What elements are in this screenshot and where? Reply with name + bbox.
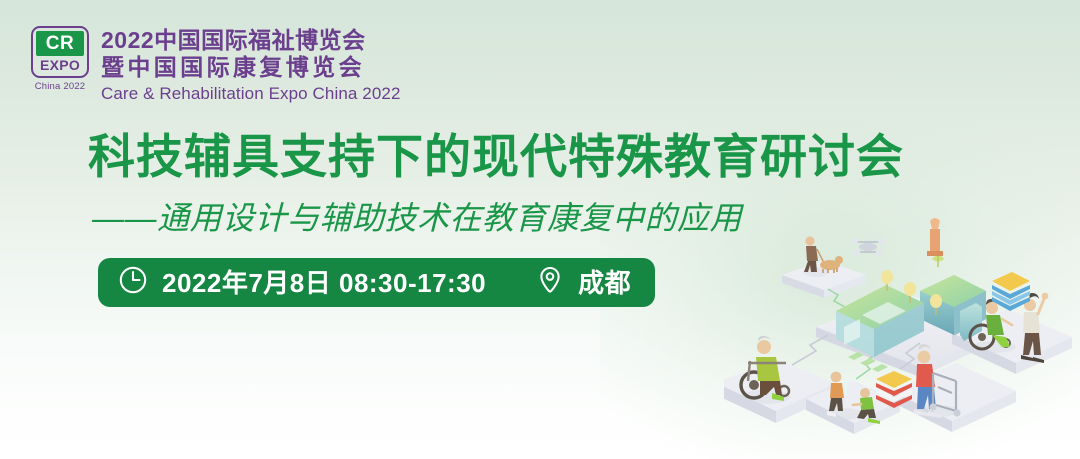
- clock-icon: [118, 265, 148, 300]
- expo-branding: CR EXPO China 2022 2022中国国际福祉博览会 暨中国国际康复…: [30, 26, 401, 105]
- tower-icon: [927, 218, 943, 256]
- page-title: 科技辅具支持下的现代特殊教育研讨会: [88, 133, 904, 180]
- expo-title-english: Care & Rehabilitation Expo China 2022: [101, 84, 401, 104]
- expo-title-line1: 2022中国国际福祉博览会: [101, 27, 401, 54]
- isometric-accessibility-scene: [724, 215, 1080, 459]
- event-info-bar: 2022年7月8日 08:30-17:30 成都: [98, 258, 655, 307]
- expo-title-line2: 暨中国国际康复博览会: [101, 54, 401, 81]
- page-subtitle: ——通用设计与辅助技术在教育康复中的应用: [92, 202, 742, 234]
- logo-caption: China 2022: [35, 81, 86, 92]
- event-banner: CR EXPO China 2022 2022中国国际福祉博览会 暨中国国际康复…: [0, 0, 1080, 459]
- logo-expo-text: EXPO: [40, 58, 80, 73]
- expo-title-block: 2022中国国际福祉博览会 暨中国国际康复博览会 Care & Rehabili…: [101, 26, 401, 105]
- event-datetime: 2022年7月8日 08:30-17:30: [162, 270, 486, 296]
- logo-cr-badge: CR: [36, 31, 84, 56]
- logo-frame: CR EXPO: [31, 26, 89, 78]
- event-location: 成都: [578, 270, 631, 296]
- guide-dog-user: [803, 236, 843, 277]
- cr-expo-logo: CR EXPO China 2022: [30, 26, 90, 92]
- location-pin-icon: [536, 265, 564, 300]
- drone-icon: [852, 238, 884, 256]
